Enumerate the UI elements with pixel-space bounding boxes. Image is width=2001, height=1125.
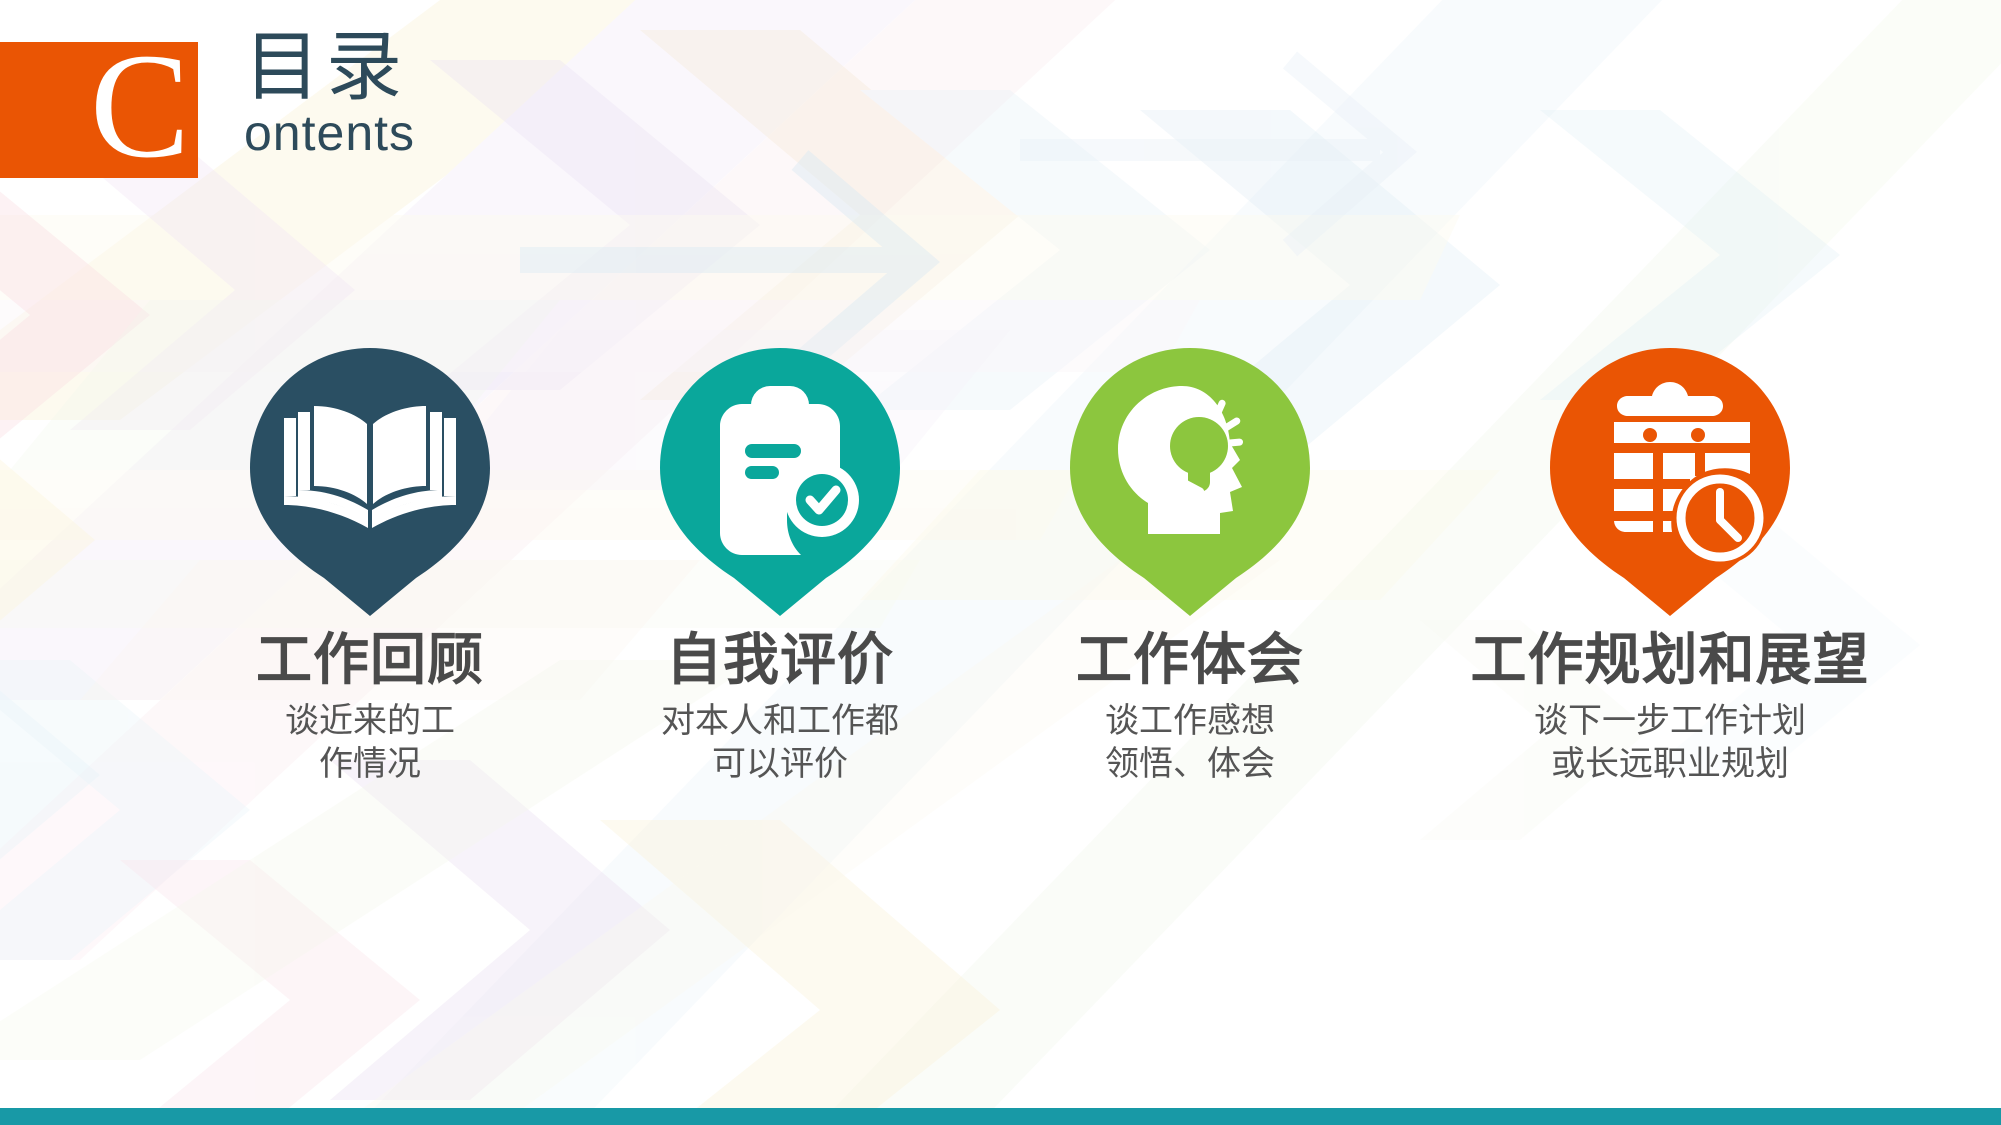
subtitle-line: 对本人和工作都 — [590, 700, 970, 744]
subtitle-line: 谈工作感想 — [1000, 700, 1380, 744]
content-item-3-title: 工作体会 — [1000, 630, 1380, 692]
subtitle-line: 谈近来的工 — [180, 700, 560, 744]
footer-accent-bar — [0, 1108, 2001, 1125]
contents-logo-block: C — [0, 42, 198, 178]
pin-marker-2[interactable] — [650, 340, 910, 620]
contents-items: 工作回顾 谈近来的工 作情况 — [0, 340, 2001, 900]
content-item-1[interactable]: 工作回顾 谈近来的工 作情况 — [180, 340, 560, 787]
pin-marker-4[interactable] — [1540, 340, 1800, 620]
page-title-cn: 目录 — [244, 28, 415, 106]
content-item-3-subtitle: 谈工作感想 领悟、体会 — [1000, 700, 1380, 787]
content-item-2-subtitle: 对本人和工作都 可以评价 — [590, 700, 970, 787]
subtitle-line: 领悟、体会 — [1000, 743, 1380, 787]
contents-slide: C 目录 ontents — [0, 0, 2001, 1125]
subtitle-line: 作情况 — [180, 743, 560, 787]
content-item-2-title: 自我评价 — [590, 630, 970, 692]
content-item-1-title: 工作回顾 — [180, 630, 560, 692]
content-item-2[interactable]: 自我评价 对本人和工作都 可以评价 — [590, 340, 970, 787]
content-item-4-title: 工作规划和展望 — [1430, 630, 1910, 692]
clipboard-check-icon — [650, 340, 910, 620]
pin-marker-1[interactable] — [240, 340, 500, 620]
content-item-1-subtitle: 谈近来的工 作情况 — [180, 700, 560, 787]
subtitle-line: 谈下一步工作计划 — [1430, 700, 1910, 744]
page-title-en: ontents — [244, 108, 415, 158]
head-lightbulb-icon — [1060, 340, 1320, 620]
content-item-4[interactable]: 工作规划和展望 谈下一步工作计划 或长远职业规划 — [1430, 340, 1910, 787]
content-item-3[interactable]: 工作体会 谈工作感想 领悟、体会 — [1000, 340, 1380, 787]
pin-marker-3[interactable] — [1060, 340, 1320, 620]
header-text-group: 目录 ontents — [244, 28, 415, 158]
calendar-clock-icon — [1540, 340, 1800, 620]
open-book-icon — [240, 340, 500, 620]
subtitle-line: 或长远职业规划 — [1430, 743, 1910, 787]
content-item-4-subtitle: 谈下一步工作计划 或长远职业规划 — [1430, 700, 1910, 787]
subtitle-line: 可以评价 — [590, 743, 970, 787]
logo-letter-c: C — [90, 45, 198, 168]
